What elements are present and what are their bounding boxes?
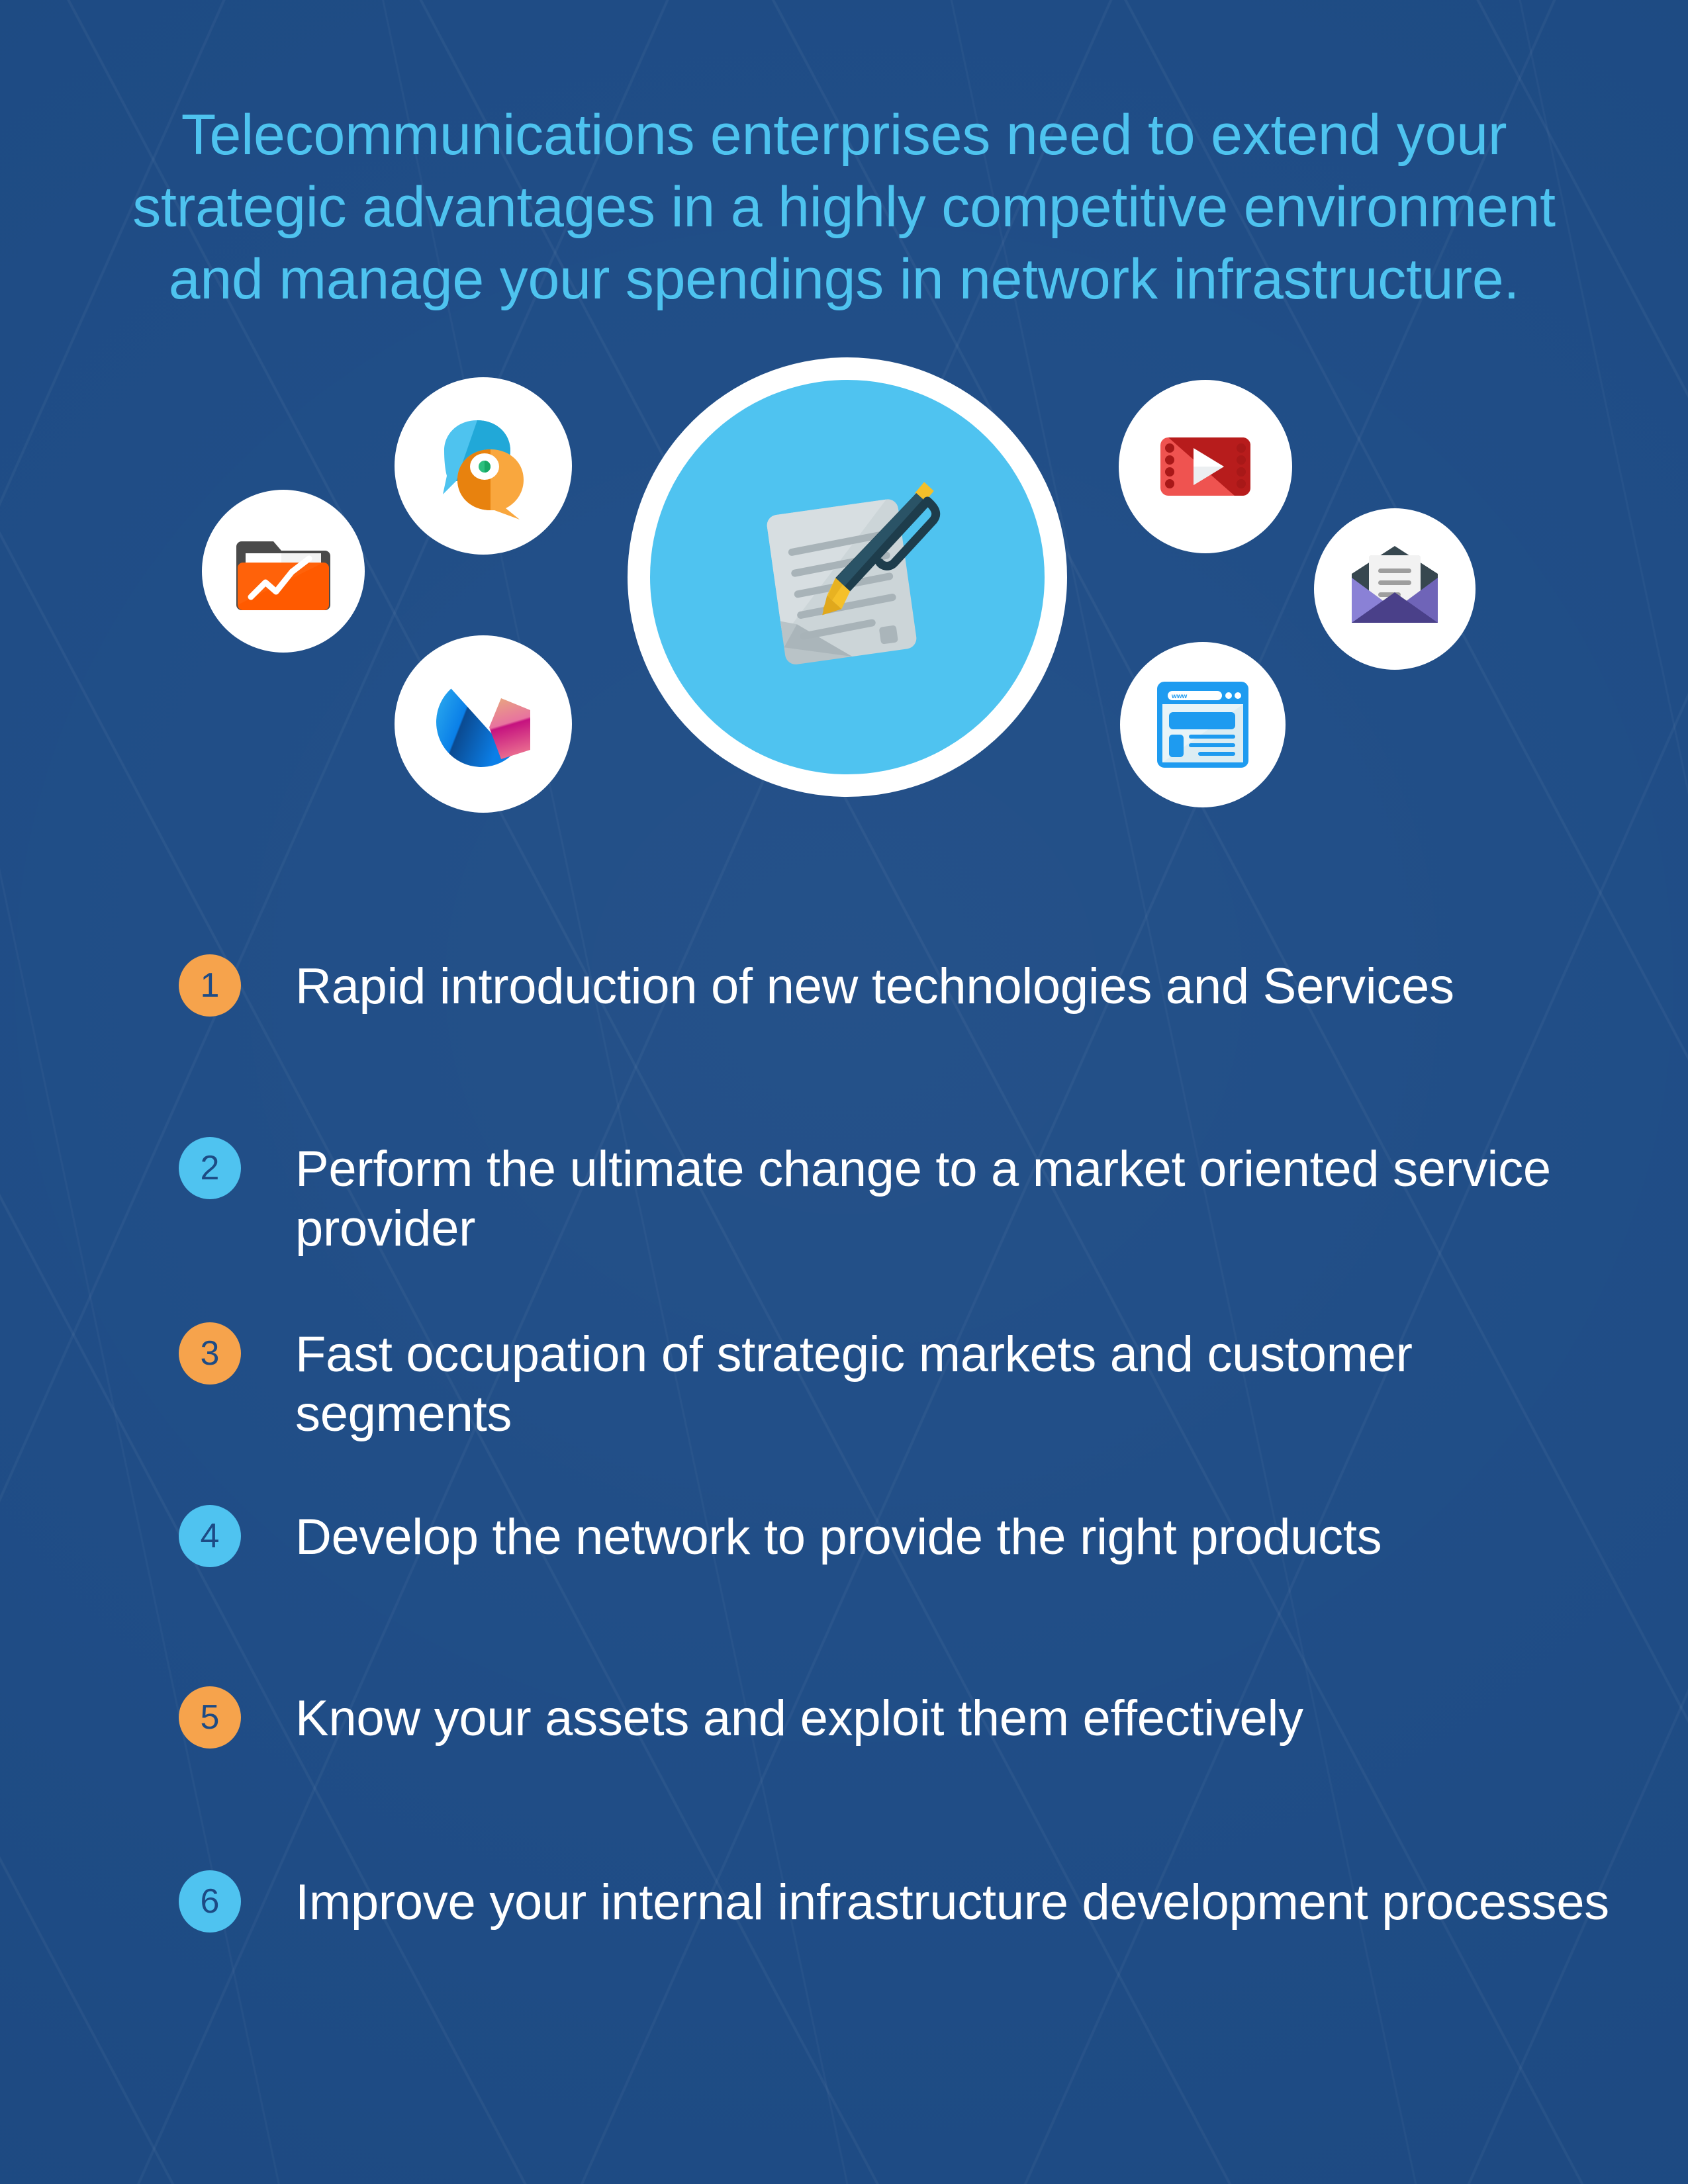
list-item: 2 Perform the ultimate change to a marke… [179, 1137, 1642, 1259]
list-item-label: Rapid introduction of new technologies a… [295, 954, 1642, 1017]
list-item-badge: 1 [179, 954, 241, 1017]
background-pattern-diagonal-a [0, 0, 1688, 2184]
browser-window-icon: www [1120, 642, 1286, 807]
list-item-label: Perform the ultimate change to a market … [295, 1137, 1642, 1259]
document-with-pen-icon [628, 357, 1067, 797]
list-item: 3 Fast occupation of strategic markets a… [179, 1322, 1642, 1445]
icon-cluster: www [0, 357, 1688, 887]
list-item-badge: 6 [179, 1870, 241, 1933]
pie-chart-icon [395, 635, 572, 813]
background-vignette [0, 0, 1688, 2184]
list-item: 1 Rapid introduction of new technologies… [179, 954, 1642, 1017]
svg-text:www: www [1171, 693, 1188, 700]
list-item: 4 Develop the network to provide the rig… [179, 1505, 1642, 1567]
list-item-label: Fast occupation of strategic markets and… [295, 1322, 1642, 1445]
infographic-page: Telecommunications enterprises need to e… [0, 0, 1688, 2184]
chat-bubbles-icon [395, 377, 572, 555]
folder-chart-icon [202, 490, 365, 653]
background-pattern-diagonal-c [0, 0, 1688, 2184]
headline-text: Telecommunications enterprises need to e… [0, 99, 1688, 316]
list-item-label: Know your assets and exploit them effect… [295, 1686, 1642, 1749]
list-item: 5 Know your assets and exploit them effe… [179, 1686, 1642, 1749]
background-pattern-diagonal-b [0, 0, 1688, 2184]
list-item-badge: 5 [179, 1686, 241, 1749]
list-item-badge: 2 [179, 1137, 241, 1199]
list-item-badge: 4 [179, 1505, 241, 1567]
center-circle-fill [650, 380, 1045, 774]
envelope-mail-icon [1314, 508, 1476, 670]
list-item-badge: 3 [179, 1322, 241, 1385]
video-film-icon [1119, 380, 1292, 553]
list-item-label: Improve your internal infrastructure dev… [295, 1870, 1642, 1933]
list-item-label: Develop the network to provide the right… [295, 1505, 1642, 1567]
list-item: 6 Improve your internal infrastructure d… [179, 1870, 1642, 1933]
